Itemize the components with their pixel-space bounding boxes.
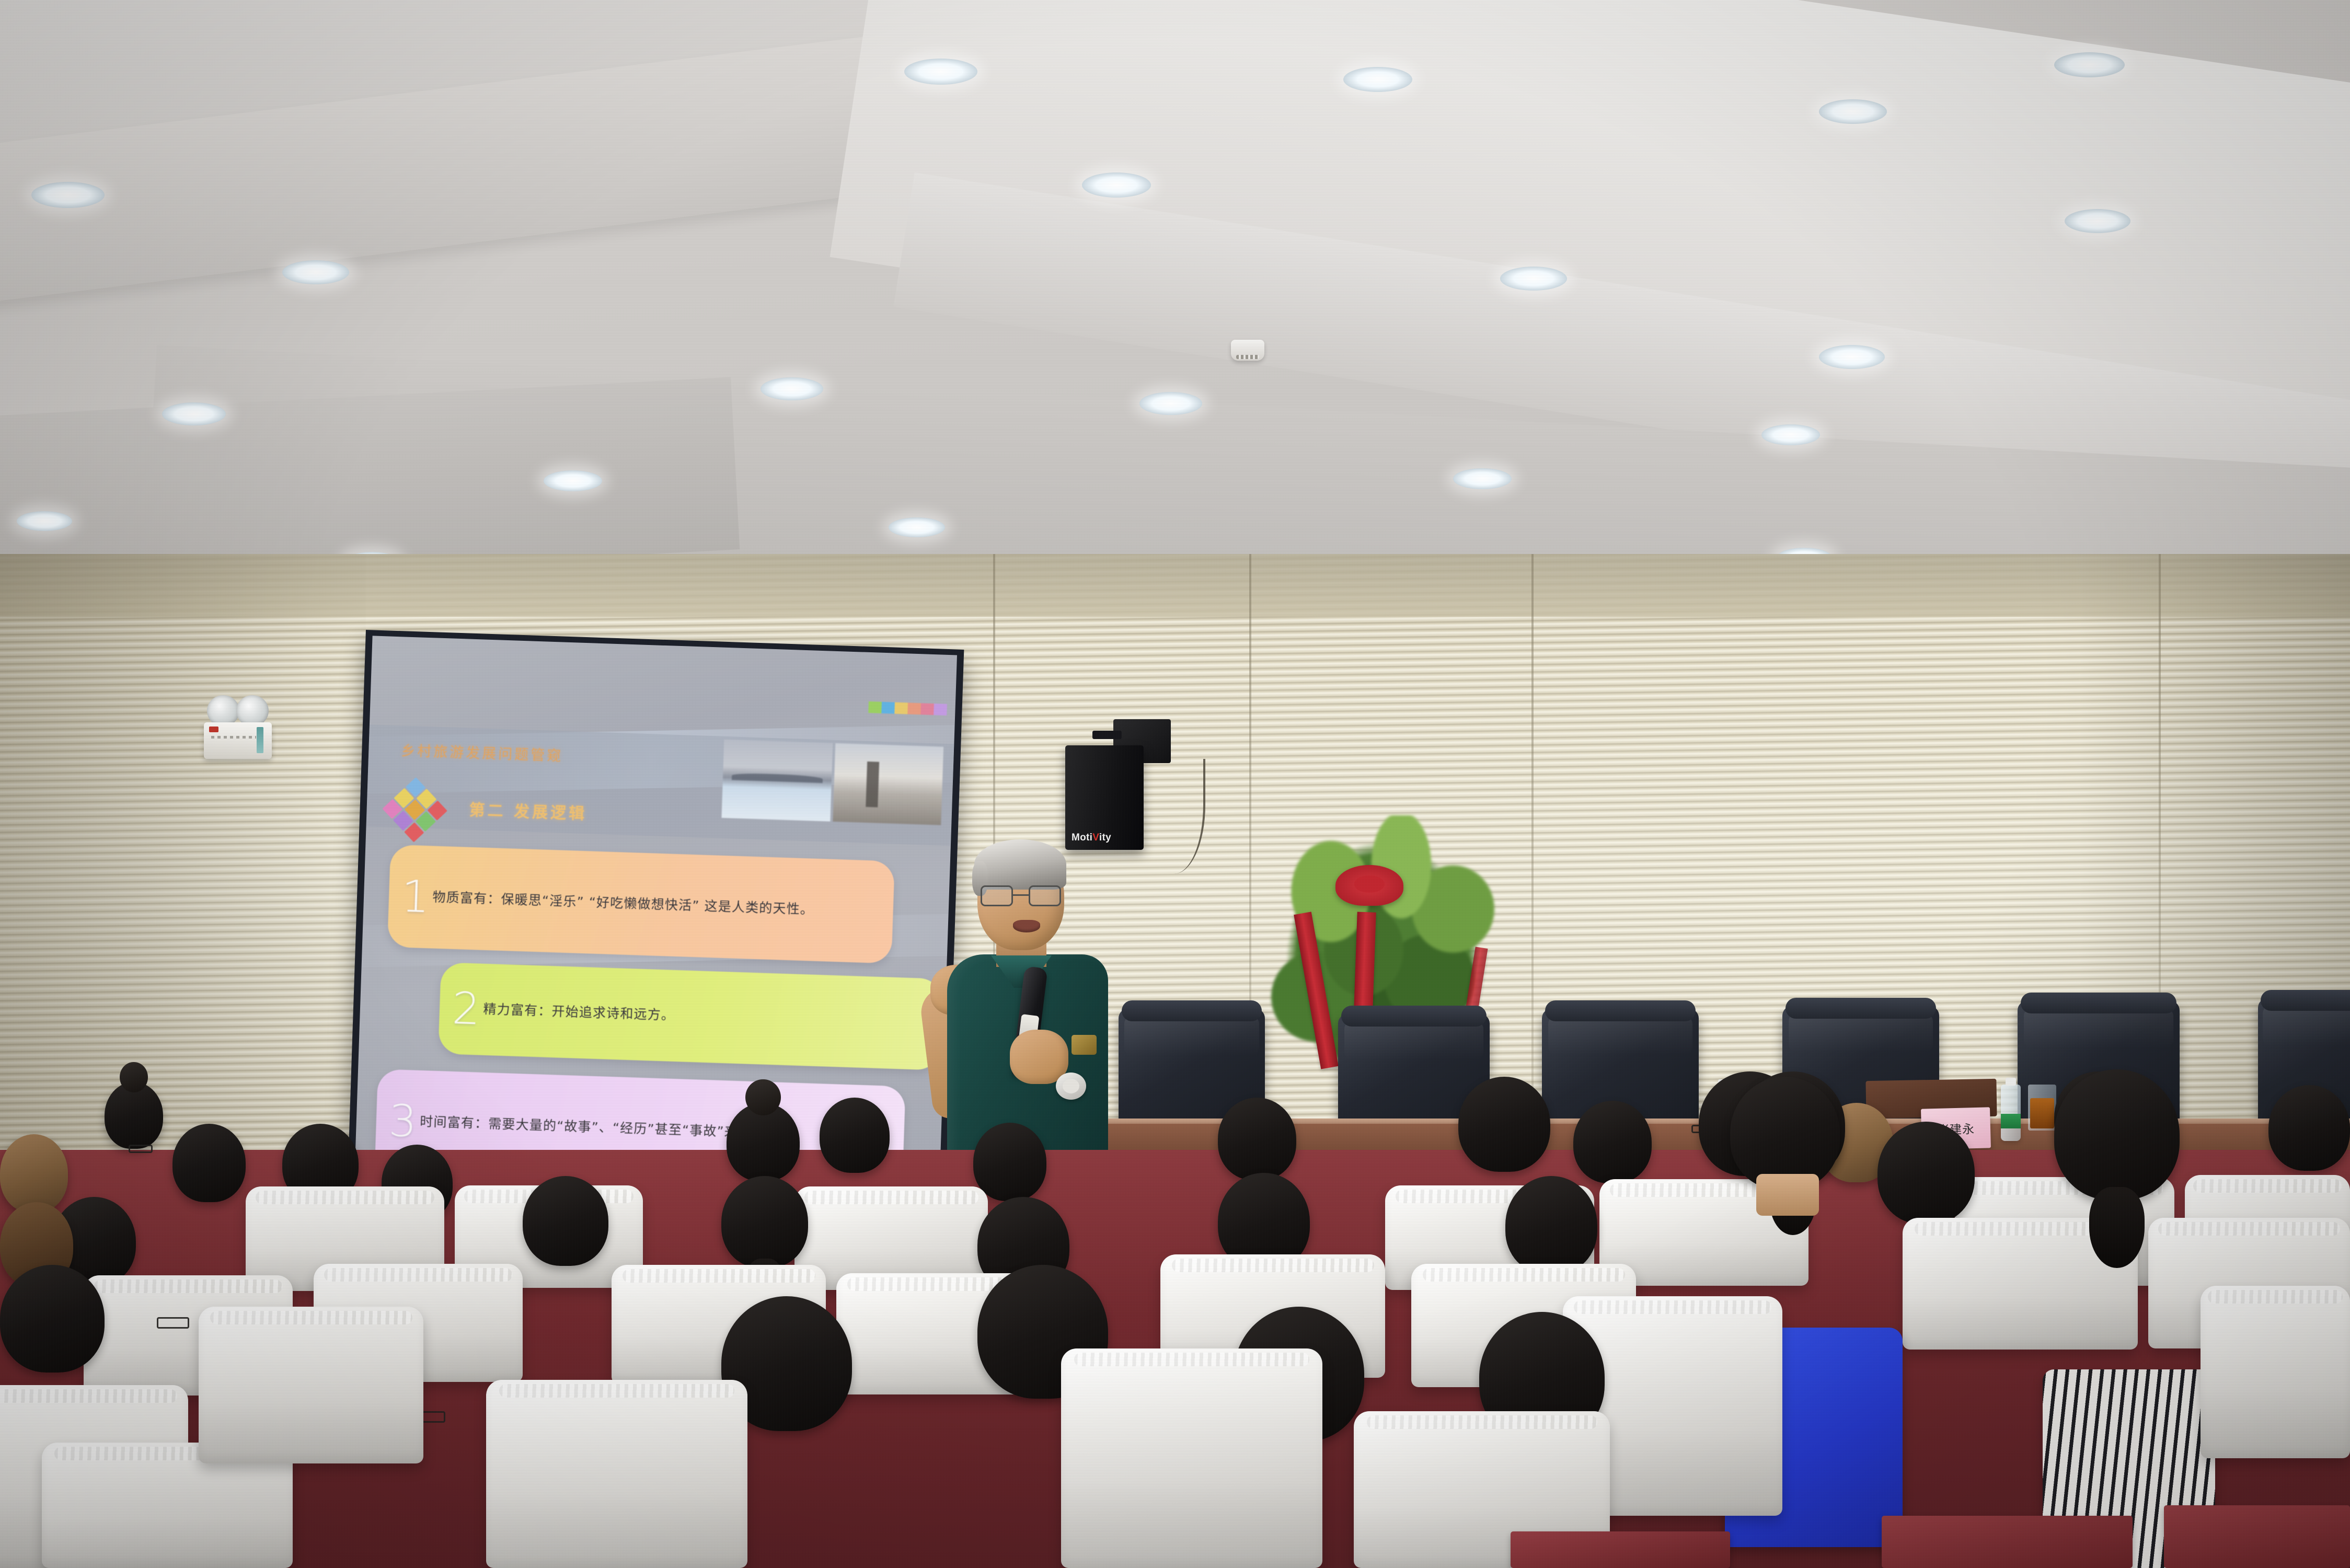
presenter-mic-hand (1010, 1030, 1068, 1084)
presenter-glasses-icon (981, 885, 1061, 907)
audience-head (523, 1176, 608, 1266)
downlight (2054, 52, 2125, 77)
audience-head (1458, 1077, 1550, 1172)
downlight (1819, 99, 1887, 124)
downlight (1761, 424, 1820, 445)
sunset-silhouette-photo (833, 743, 943, 825)
emergency-label-text (211, 736, 256, 739)
audience-glasses-icon (129, 1145, 153, 1153)
water-bottle (2001, 1085, 2021, 1141)
audience-head (172, 1124, 246, 1202)
audience-seat[interactable] (2201, 1286, 2350, 1458)
smoke-detector-icon (1231, 340, 1264, 361)
audience-glasses-icon (157, 1317, 189, 1329)
downlight (1453, 468, 1512, 489)
presenter-hair (974, 839, 1066, 890)
blue-shirt-neck (1756, 1174, 1819, 1216)
downlight (1819, 345, 1885, 369)
slide-section-label: 第二 发展逻辑 (469, 797, 587, 824)
downlight (904, 59, 977, 85)
downlight (162, 402, 226, 425)
slide-bullet-2-text: 精力富有：开始追求诗和远方。 (483, 999, 687, 1027)
speaker-mount-arm (1092, 731, 1122, 739)
seat-back-frame (1511, 1531, 1730, 1568)
emergency-lamp-left (207, 695, 239, 727)
emergency-indicator (209, 727, 218, 732)
downlight (889, 517, 945, 537)
audience-head (820, 1098, 890, 1173)
audience-head (1218, 1098, 1296, 1180)
speaker-cabinet: MotiVity (1065, 745, 1144, 850)
downlight (1139, 392, 1202, 415)
downlight (761, 377, 823, 400)
slide-bullet-3-number: 3 (388, 1103, 418, 1140)
slide-surface: 乡村旅游发展问题管窥 第二 发展逻辑 1 物质富有：保暖思“淫乐” “好吃懒做想… (355, 636, 957, 1179)
striped-shirt-head (2054, 1069, 2180, 1200)
presenter-badge (1072, 1035, 1097, 1055)
screen-frame: 乡村旅游发展问题管窥 第二 发展逻辑 1 物质富有：保暖思“淫乐” “好吃懒做想… (348, 630, 964, 1185)
audience-head (1877, 1122, 1975, 1224)
slide-bullet-2-number: 2 (452, 990, 481, 1028)
emergency-lamp-right (236, 695, 269, 727)
audience-head (973, 1123, 1046, 1201)
seat-back-frame (1882, 1516, 2133, 1568)
wall-seam (1531, 554, 1534, 1171)
audience-head (727, 1103, 800, 1181)
audience-head (1505, 1176, 1597, 1274)
audience-seat[interactable] (199, 1307, 423, 1463)
audience-head (721, 1176, 808, 1268)
downlight (1500, 267, 1567, 291)
wall-left-shading (0, 554, 366, 1171)
slide-color-swatches (868, 701, 947, 716)
seat-back-frame (2164, 1505, 2350, 1568)
downlight (2065, 209, 2130, 233)
blue-shirt-head (1730, 1077, 1840, 1190)
presenter-wristwatch (1056, 1073, 1086, 1100)
ceiling (0, 0, 2350, 648)
audience-head (1573, 1101, 1652, 1183)
slide-bullet-1-text: 物质富有：保暖思“淫乐” “好吃懒做想快活” 这是人类的天性。 (432, 886, 826, 920)
speaker-cable (1153, 759, 1205, 874)
slide-bullet-1-number: 1 (401, 878, 430, 915)
projection-screen[interactable]: 乡村旅游发展问题管窥 第二 发展逻辑 1 物质富有：保暖思“淫乐” “好吃懒做想… (348, 630, 964, 1185)
slide-bullet-1: 1 物质富有：保暖思“淫乐” “好吃懒做想快活” 这是人类的天性。 (387, 845, 895, 964)
downlight (1082, 172, 1151, 198)
downlight (282, 260, 349, 284)
slide-header-photos (721, 740, 943, 825)
audience-head (0, 1265, 105, 1373)
downlight (31, 182, 105, 208)
presenter-mouth (1013, 920, 1040, 932)
audience-seat[interactable] (486, 1380, 747, 1568)
emergency-light-body (204, 722, 272, 759)
audience-head (2268, 1085, 2350, 1171)
downlight (544, 470, 602, 491)
misty-lake-photo (721, 740, 832, 822)
downlight (1343, 67, 1412, 92)
downlight (17, 511, 72, 531)
slide-bullet-2: 2 精力富有：开始追求诗和远方。 (438, 962, 942, 1070)
audience-head (0, 1134, 68, 1213)
audience-seat[interactable] (1061, 1348, 1322, 1568)
emergency-status-bar (257, 727, 263, 753)
lecture-hall-photo: MotiVity 乡村旅游发展问题管窥 (0, 0, 2350, 1568)
emergency-light-icon (204, 695, 277, 763)
red-ribbon-bow (1335, 865, 1403, 906)
tea-cup (2028, 1085, 2056, 1131)
audience-head (105, 1082, 163, 1149)
